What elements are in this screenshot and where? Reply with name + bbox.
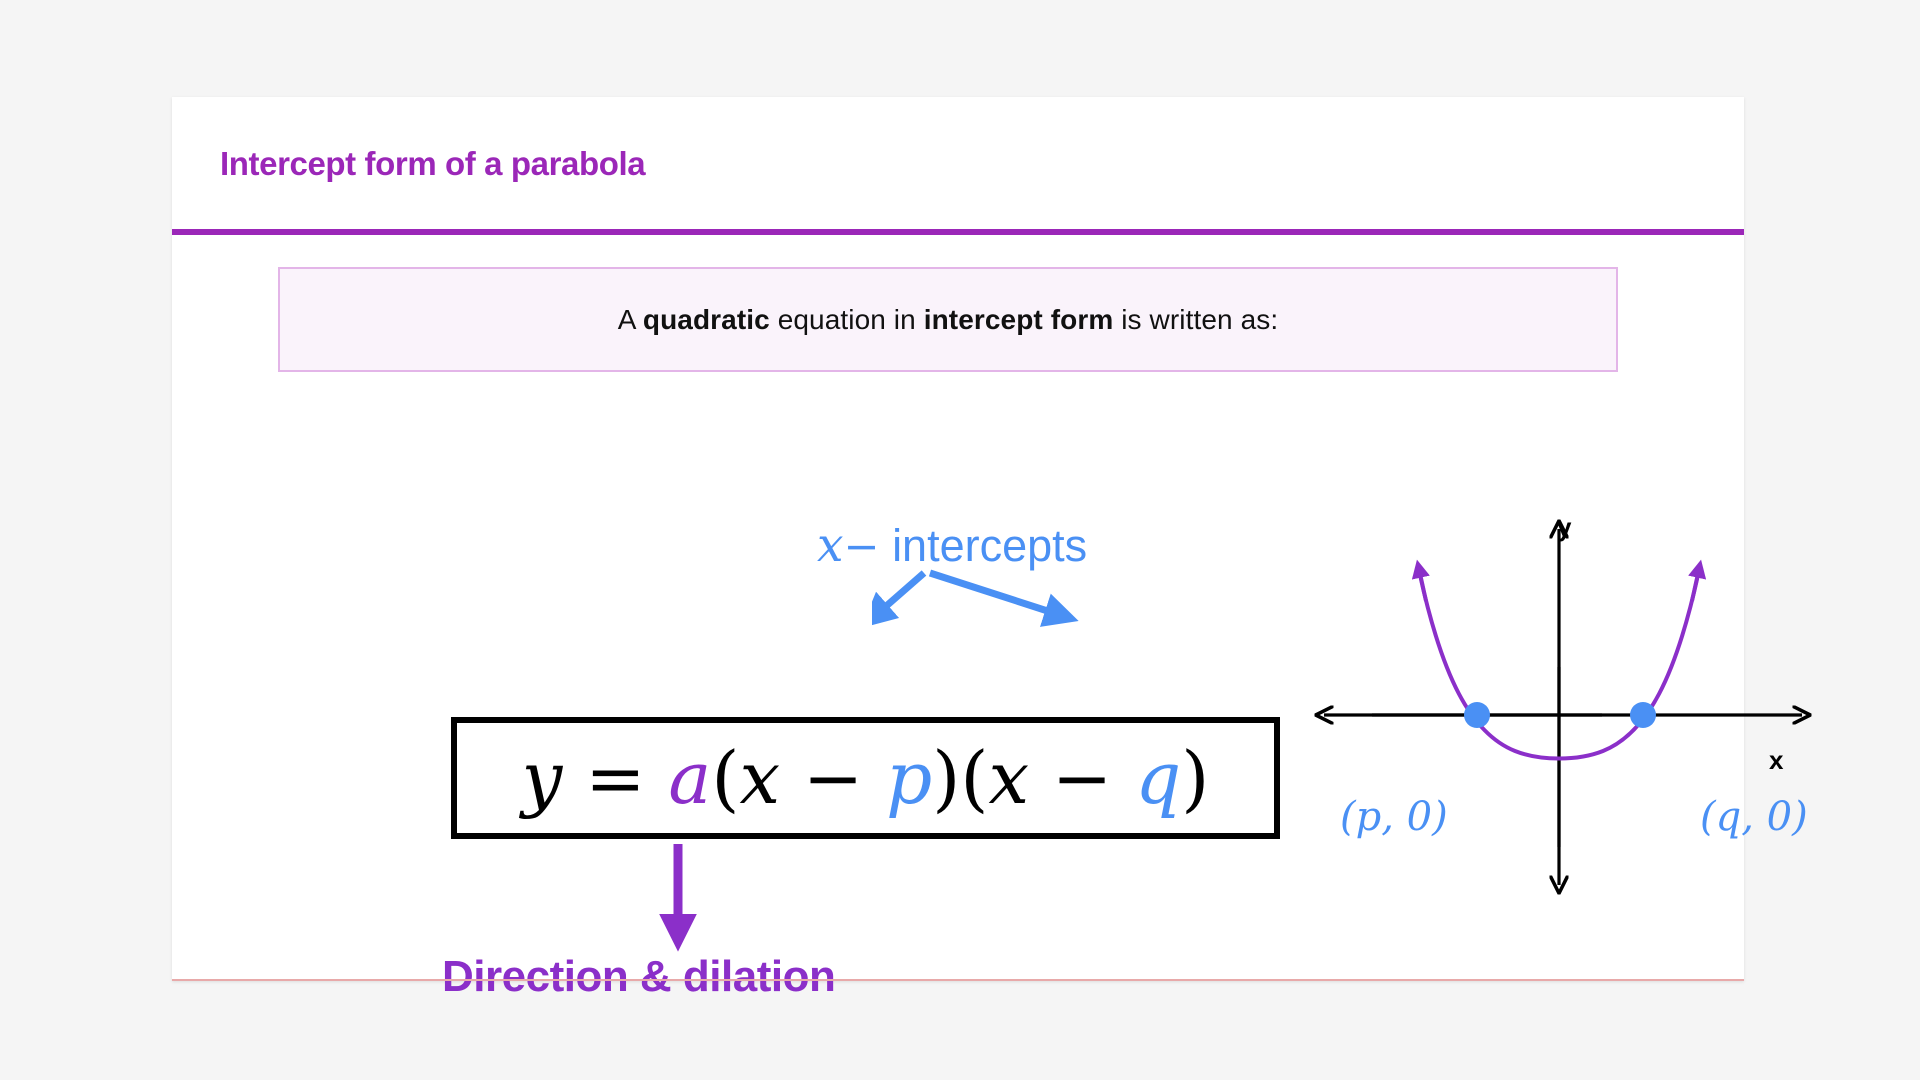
page-title: Intercept form of a parabola <box>220 145 645 183</box>
intercept-pointer-arrows <box>872 567 1172 712</box>
equation-open-paren-2: ( <box>960 736 988 820</box>
x-axis-label: x <box>1769 745 1783 776</box>
arrow-to-p <box>876 573 924 615</box>
equation-close-paren-2: ) <box>1181 736 1209 820</box>
x-intercepts-minus: − <box>844 522 880 572</box>
x-intercepts-label: x− intercepts <box>817 522 1087 569</box>
equation-root-q: q <box>1135 736 1181 820</box>
statement-bold-quadratic: quadratic <box>643 304 770 335</box>
statement-callout: A quadratic equation in intercept form i… <box>278 267 1618 372</box>
direction-pointer-arrow <box>652 842 712 952</box>
title-divider <box>172 229 1744 235</box>
equation-minus-2: − <box>1052 736 1112 820</box>
intercept-point-p <box>1464 702 1490 728</box>
direction-dilation-label: Direction & dilation <box>442 952 835 1002</box>
parabola-graph <box>1302 507 1822 927</box>
statement-suffix: is written as: <box>1113 304 1278 335</box>
intercept-point-q <box>1630 702 1656 728</box>
y-axis-label: y <box>1557 512 1571 543</box>
statement-text: A quadratic equation in intercept form i… <box>618 304 1278 336</box>
arrow-to-q <box>930 573 1060 615</box>
equation-x-1: x <box>739 736 780 820</box>
x-intercepts-variable: x <box>817 518 844 573</box>
equation-open-paren-1: ( <box>711 736 739 820</box>
equation-lhs: y <box>522 736 563 820</box>
equation-root-p: p <box>886 736 932 820</box>
equation-coefficient-a: a <box>668 736 711 820</box>
curve-arrow-right <box>1692 569 1699 601</box>
equation-box: y = a(x − p)(x − q) <box>451 717 1280 839</box>
equation-x-2: x <box>988 736 1029 820</box>
equation-close-paren-1: ) <box>932 736 960 820</box>
equation-equals: = <box>585 736 645 820</box>
slide-card: Intercept form of a parabola A quadratic… <box>172 97 1744 981</box>
statement-prefix: A <box>618 304 643 335</box>
equation-minus-1: − <box>803 736 863 820</box>
coordinate-label-p: (p, 0) <box>1340 794 1448 840</box>
curve-arrow-left <box>1419 569 1426 601</box>
statement-bold-intercept-form: intercept form <box>924 304 1114 335</box>
coordinate-label-q: (q, 0) <box>1700 794 1808 840</box>
equation-text: y = a(x − p)(x − q) <box>522 742 1210 814</box>
x-intercepts-word: intercepts <box>892 520 1087 571</box>
statement-middle: equation in <box>770 304 924 335</box>
